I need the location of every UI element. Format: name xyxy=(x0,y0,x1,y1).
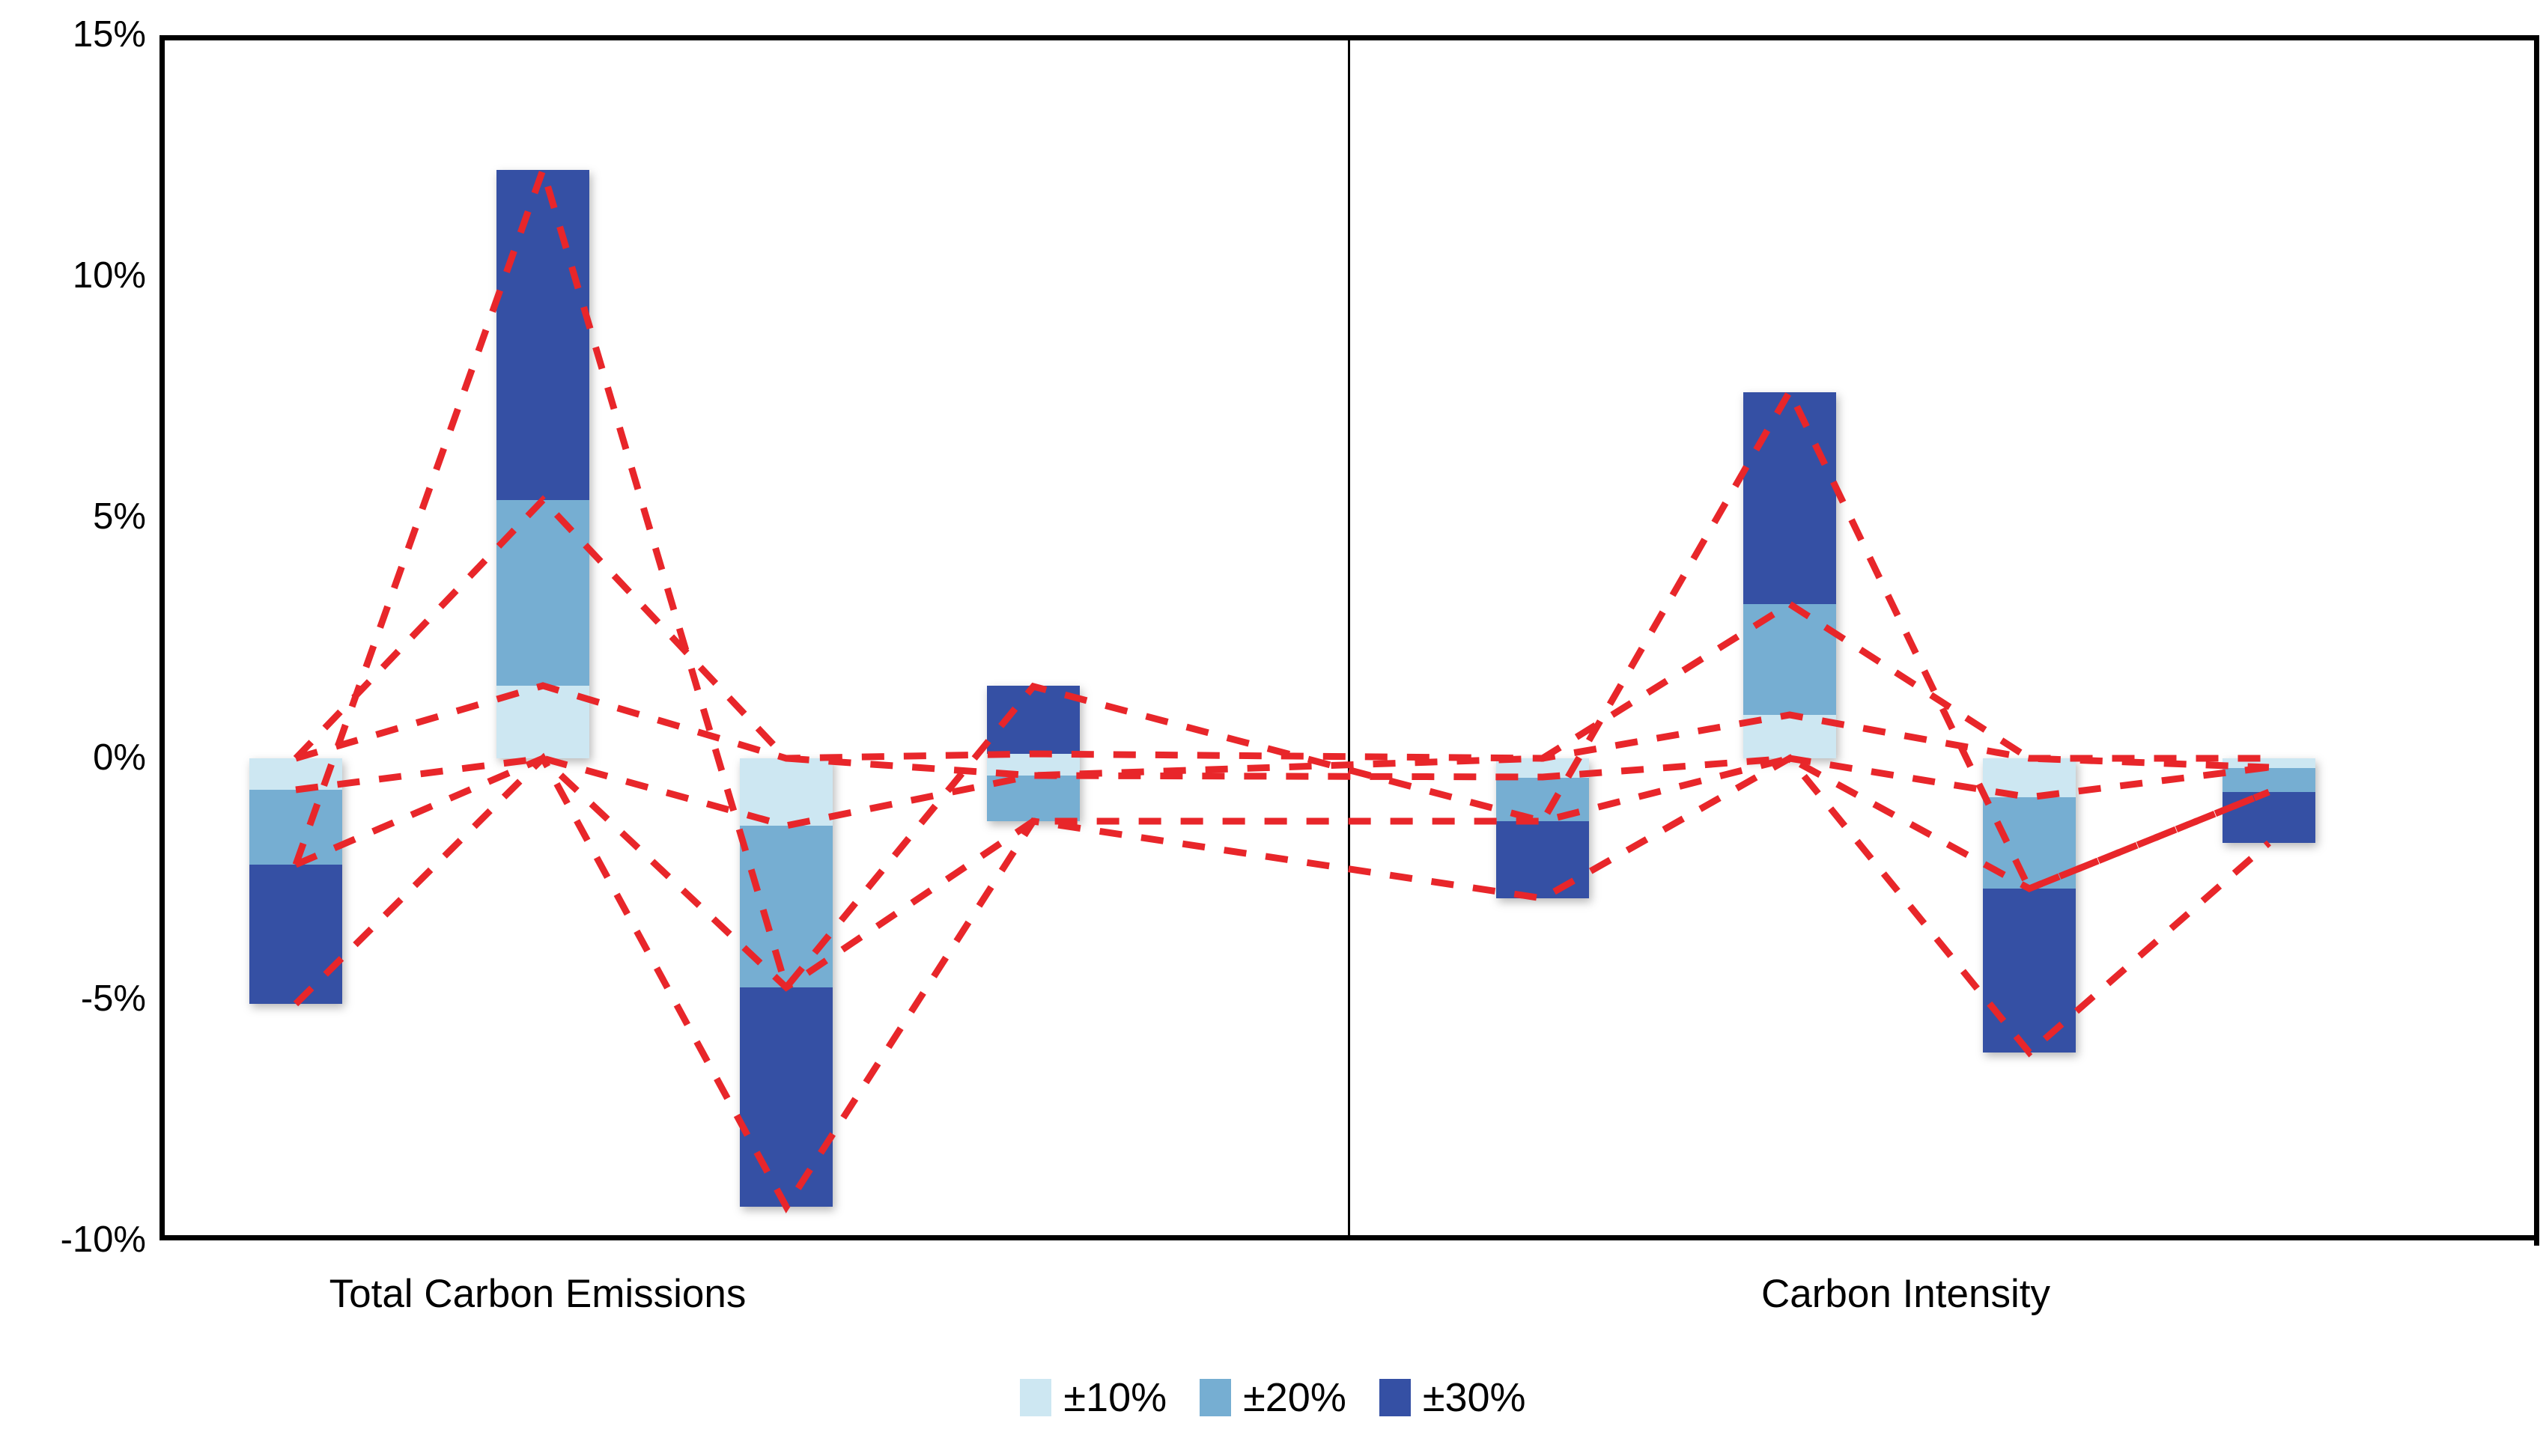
bar-segment-band20 xyxy=(1496,778,1589,821)
bar-segment-band30 xyxy=(740,987,833,1207)
uncertainty-bar[interactable] xyxy=(2223,758,2315,843)
uncertainty-bar[interactable] xyxy=(1496,758,1589,898)
uncertainty-bar[interactable] xyxy=(496,170,589,758)
legend-item-10[interactable]: ±10% xyxy=(1020,1377,1167,1418)
y-axis-tick-neg5: -5% xyxy=(7,981,146,1017)
bar-segment-band10 xyxy=(1743,715,1836,758)
bar-segment-band30 xyxy=(1743,392,1836,604)
category-label-total-carbon-emissions: Total Carbon Emissions xyxy=(238,1271,837,1317)
legend-swatch-30 xyxy=(1379,1379,1411,1416)
tornado-uncertainty-chart: 15%10%5%0%-5%-10% Total Carbon Emissions… xyxy=(0,0,2546,1456)
bar-segment-band20 xyxy=(1983,797,2076,889)
bar-segment-band20 xyxy=(987,776,1080,821)
legend-item-30[interactable]: ±30% xyxy=(1379,1377,1526,1418)
legend: ±10% ±20% ±30% xyxy=(0,1377,2546,1418)
uncertainty-bar[interactable] xyxy=(740,758,833,1207)
uncertainty-bar[interactable] xyxy=(249,758,342,1004)
y-axis-tick-15: 15% xyxy=(7,16,146,53)
bar-segment-band10 xyxy=(987,754,1080,776)
y-axis-tick-0: 0% xyxy=(7,740,146,776)
bar-segment-band30 xyxy=(496,170,589,500)
bar-segment-band20 xyxy=(2223,768,2315,792)
legend-label-20: ±20% xyxy=(1243,1377,1346,1418)
panel-divider-line xyxy=(1348,35,1350,1240)
y-axis-tick-10: 10% xyxy=(7,258,146,294)
legend-swatch-10 xyxy=(1020,1379,1051,1416)
bar-segment-band10 xyxy=(249,758,342,790)
plot-area-right-border xyxy=(2534,35,2539,1246)
bar-segment-band30 xyxy=(2223,792,2315,843)
bar-segment-band30 xyxy=(1496,821,1589,898)
legend-item-20[interactable]: ±20% xyxy=(1200,1377,1346,1418)
bar-segment-band20 xyxy=(496,500,589,686)
uncertainty-bar[interactable] xyxy=(987,686,1080,820)
y-axis-tick-neg10: -10% xyxy=(7,1222,146,1258)
y-axis-tick-5: 5% xyxy=(7,499,146,535)
bar-segment-band10 xyxy=(496,686,589,758)
legend-label-10: ±10% xyxy=(1063,1377,1167,1418)
bar-segment-band10 xyxy=(2223,758,2315,768)
bar-segment-band10 xyxy=(1983,758,2076,797)
category-label-carbon-intensity: Carbon Intensity xyxy=(1606,1271,2205,1317)
bar-segment-band20 xyxy=(249,790,342,865)
bar-segment-band10 xyxy=(1496,758,1589,778)
legend-label-30: ±30% xyxy=(1423,1377,1526,1418)
bar-segment-band30 xyxy=(987,686,1080,753)
bar-segment-band30 xyxy=(1983,889,2076,1053)
legend-swatch-20 xyxy=(1200,1379,1231,1416)
bar-segment-band20 xyxy=(740,826,833,987)
bar-segment-band20 xyxy=(1743,604,1836,715)
bar-segment-band10 xyxy=(740,758,833,826)
uncertainty-bar[interactable] xyxy=(1983,758,2076,1053)
bar-segment-band30 xyxy=(249,865,342,1005)
uncertainty-bar[interactable] xyxy=(1743,392,1836,758)
